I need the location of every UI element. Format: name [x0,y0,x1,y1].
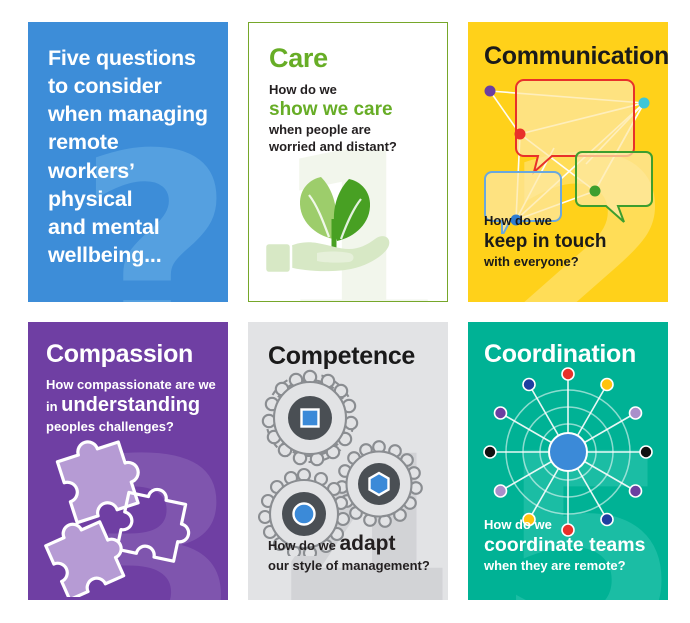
node-purple-2 [495,407,507,419]
compassion-question-prefix: in [46,399,61,414]
card-title-coordination: Coordination [468,322,668,369]
coordination-question-line-3: when they are remote? [484,558,645,574]
compassion-question-line-1: How compassionate are we [46,377,228,393]
node-lilac [630,407,642,419]
competence-question-line-2: our style of management? [268,558,430,574]
competence-question-prefix: How do we [268,538,340,553]
care-question-line-1: How do we [269,82,447,98]
gear-square [263,371,357,465]
node-yellow [601,379,613,391]
card-question-care: How do we show we care when people are w… [249,74,447,155]
competence-question-line-1: How do we adapt [268,531,430,557]
intro-line-1: Five questions [48,44,212,72]
care-question-emphasis: show we care [269,98,447,122]
compassion-question-emphasis: understanding [61,394,200,416]
card-communication: 2 Communication [468,22,668,302]
card-competence: 4 Competence [248,322,448,600]
node-purple [630,485,642,497]
node-black-right [640,446,652,458]
watermark-number-4: 4 [280,451,448,600]
intro-line-2: to consider [48,72,212,100]
intro-line-5: workers’ [48,157,212,185]
hand-holding-plant-icon [259,161,409,286]
coordination-question-line-1: How do we [484,517,645,533]
intro-line-6: physical [48,185,212,213]
care-question-line-3: when people are [269,122,447,138]
card-question-communication: How do we keep in touch with everyone? [484,213,606,270]
coordination-question-emphasis: coordinate teams [484,533,645,558]
node-green [590,186,601,197]
card-care: 1 Care How do we show we care when peopl… [248,22,448,302]
infographic-board: ? Five questions to consider when managi… [0,0,690,623]
card-question-competence: How do we adapt our style of management? [268,531,430,574]
card-title-care: Care [249,23,447,74]
intro-line-7: and mental [48,213,212,241]
communication-question-emphasis: keep in touch [484,230,606,254]
card-title-compassion: Compassion [28,322,228,369]
compassion-question-line-2: in understanding [46,393,228,418]
intro-line-8: wellbeing... [48,241,212,269]
node-red-top [562,368,574,380]
intro-headline: Five questions to consider when managing… [28,22,228,269]
card-question-compassion: How compassionate are we in understandin… [28,369,228,435]
card-question-coordination: How do we coordinate teams when they are… [484,517,645,574]
card-compassion: 3 Compassion How compassionate are we in… [28,322,228,600]
communication-question-line-3: with everyone? [484,254,606,270]
compassion-question-line-3: peoples challenges? [46,419,228,435]
node-cyan [639,98,650,109]
network-hub [549,433,587,471]
card-coordination: 5 Coordination [468,322,668,600]
communication-question-line-1: How do we [484,213,606,229]
node-black-left [484,446,496,458]
competence-question-emphasis: adapt [340,532,396,555]
node-darkblue-2 [523,379,535,391]
card-intro: ? Five questions to consider when managi… [28,22,228,302]
node-lilac-2 [495,485,507,497]
watermark-number-1: 1 [271,148,445,302]
node-red [515,129,526,140]
intro-line-4: remote [48,128,212,156]
watermark-number-3: 3 [58,455,228,600]
intro-line-3: when managing [48,100,212,128]
gear-hexagon [336,441,422,527]
care-question-line-4: worried and distant? [269,139,447,155]
node-purple [485,86,496,97]
card-title-communication: Communication [468,22,668,71]
jigsaw-puzzle-pieces-icon [36,432,216,600]
card-title-competence: Competence [248,322,448,371]
